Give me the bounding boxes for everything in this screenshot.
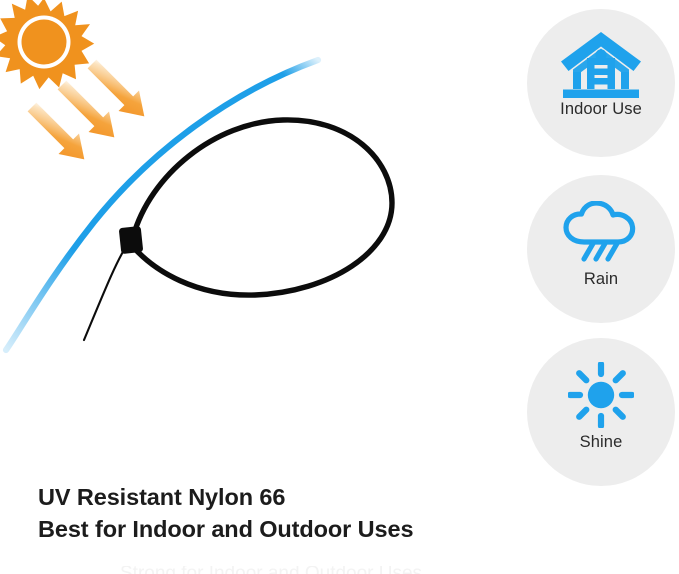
sun-burst-icon (0, 0, 94, 89)
sun-rays-icon (568, 362, 634, 428)
caption-clipped-line: Strong for Indoor and Outdoor Uses (120, 566, 540, 574)
caption-line-2: Best for Indoor and Outdoor Uses (38, 513, 508, 545)
badge-indoor-use-label: Indoor Use (560, 101, 642, 118)
uv-shield-arc (6, 60, 318, 350)
badge-shine[interactable]: Shine (527, 338, 675, 486)
feature-badge-column: Indoor Use Rain (527, 0, 679, 500)
cable-tie-loop (84, 120, 392, 340)
caption-block: UV Resistant Nylon 66 Best for Indoor an… (38, 481, 508, 545)
product-feature-panel: Indoor Use Rain (0, 0, 679, 574)
badge-rain[interactable]: Rain (527, 175, 675, 323)
badge-rain-label: Rain (584, 271, 618, 288)
rain-cloud-icon (562, 201, 640, 263)
uv-resistant-cable-tie-illustration (0, 0, 500, 470)
badge-indoor-use[interactable]: Indoor Use (527, 9, 675, 157)
badge-shine-label: Shine (580, 434, 623, 451)
house-icon (559, 31, 643, 99)
caption-clipped-text: Strong for Indoor and Outdoor Uses (120, 566, 540, 574)
cable-tie-head (119, 226, 144, 254)
caption-line-1: UV Resistant Nylon 66 (38, 481, 508, 513)
